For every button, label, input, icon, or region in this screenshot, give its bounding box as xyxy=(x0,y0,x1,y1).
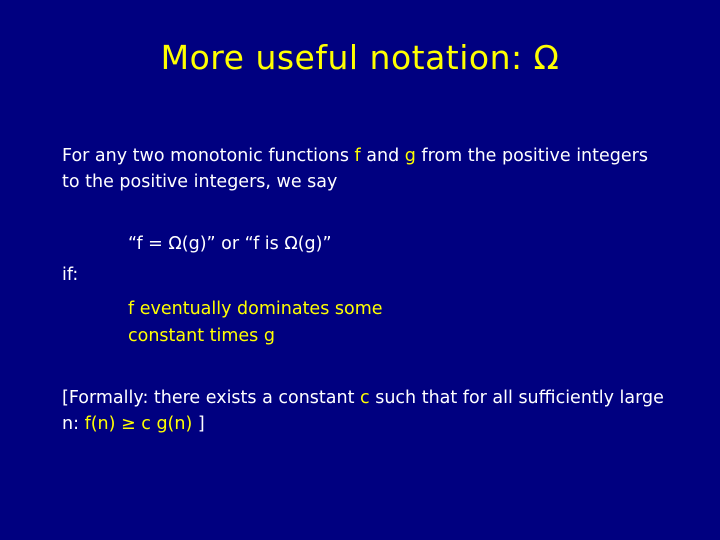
formal-statement: [Formally: there exists a constant c suc… xyxy=(62,385,682,437)
slide-canvas: More useful notation: Ω For any two mono… xyxy=(0,0,720,540)
definition-line: “f = Ω(g)” or “f is Ω(g)” xyxy=(128,234,332,254)
dominates-statement: f eventually dominates some constant tim… xyxy=(128,296,548,350)
if-label: if: xyxy=(62,265,78,285)
formal-seg1: [Formally: there exists a constant xyxy=(62,388,360,408)
page-title: More useful notation: Ω xyxy=(0,38,720,77)
page-title-text: More useful notation: xyxy=(161,38,534,77)
intro-function-g: g xyxy=(405,146,416,166)
omega-symbol: Ω xyxy=(534,38,560,77)
formal-seg5: ] xyxy=(192,414,204,434)
formal-inequality: f(n) ≥ c g(n) xyxy=(85,414,193,434)
dominates-line-1: f eventually dominates some xyxy=(128,299,383,319)
intro-seg1: For any two monotonic functions xyxy=(62,146,355,166)
formal-constant-c: c xyxy=(360,388,370,408)
intro-seg3: and xyxy=(361,146,405,166)
dominates-line-2: constant times g xyxy=(128,326,275,346)
intro-paragraph: For any two monotonic functions f and g … xyxy=(62,143,662,195)
